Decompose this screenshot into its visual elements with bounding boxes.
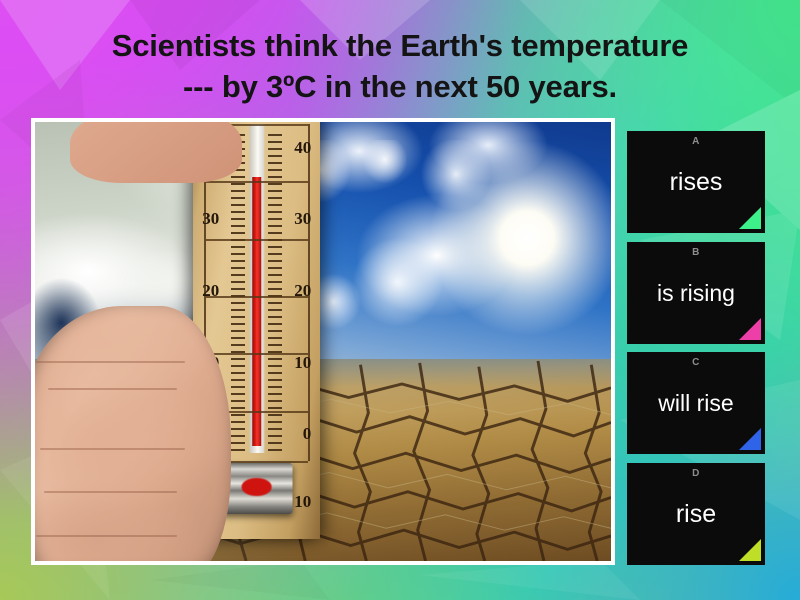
answer-option-a[interactable]: A rises <box>627 131 765 233</box>
question-title: Scientists think the Earth's temperature… <box>40 26 760 108</box>
thermometer-label-right-minus10: 10 <box>294 493 311 510</box>
answer-letter-b: B <box>627 247 765 258</box>
question-line-1: Scientists think the Earth's temperature <box>40 26 760 67</box>
answer-letter-a: A <box>627 136 765 147</box>
answer-text-d: rise <box>673 501 719 527</box>
corner-triangle-c-shape <box>739 428 761 450</box>
thermometer-label-right-30: 30 <box>294 210 311 227</box>
answer-options-list: A rises B is rising C will rise D rise <box>627 131 765 565</box>
thermometer-label-right-20: 20 <box>294 282 311 299</box>
answer-letter-d: D <box>627 468 765 479</box>
question-image-panel: 40 40 30 30 20 20 10 10 0 0 10 10 <box>31 118 615 565</box>
quiz-slide: Scientists think the Earth's temperature… <box>0 0 800 600</box>
thermometer-bulb-clamp <box>221 463 292 514</box>
thermometer-label-right-0: 0 <box>303 425 312 442</box>
clouds-right <box>288 140 611 386</box>
corner-triangle-d-shape <box>739 539 761 561</box>
thermometer-bulb-reservoir <box>242 478 272 495</box>
answer-text-a: rises <box>667 169 726 195</box>
thermometer-label-left-30: 30 <box>202 210 219 227</box>
corner-triangle-d-icon <box>739 539 761 561</box>
thermometer-label-right-40: 40 <box>294 139 311 156</box>
question-line-2: --- by 3ºC in the next 50 years. <box>40 67 760 108</box>
answer-option-b[interactable]: B is rising <box>627 242 765 344</box>
answer-text-c: will rise <box>655 391 736 415</box>
corner-triangle-b-shape <box>739 318 761 340</box>
thermometer-photo: 40 40 30 30 20 20 10 10 0 0 10 10 <box>35 122 611 561</box>
thermometer-label-right-10: 10 <box>294 354 311 371</box>
answer-letter-c: C <box>627 357 765 368</box>
hand-holding-thermometer <box>35 306 231 561</box>
thermometer-label-left-20: 20 <box>202 282 219 299</box>
corner-triangle-a-shape <box>739 207 761 229</box>
corner-triangle-c-icon <box>739 428 761 450</box>
corner-triangle-a-icon <box>739 207 761 229</box>
answer-option-d[interactable]: D rise <box>627 463 765 565</box>
answer-text-b: is rising <box>654 281 738 305</box>
answer-option-c[interactable]: C will rise <box>627 352 765 454</box>
thumb <box>70 122 243 183</box>
corner-triangle-b-icon <box>739 318 761 340</box>
